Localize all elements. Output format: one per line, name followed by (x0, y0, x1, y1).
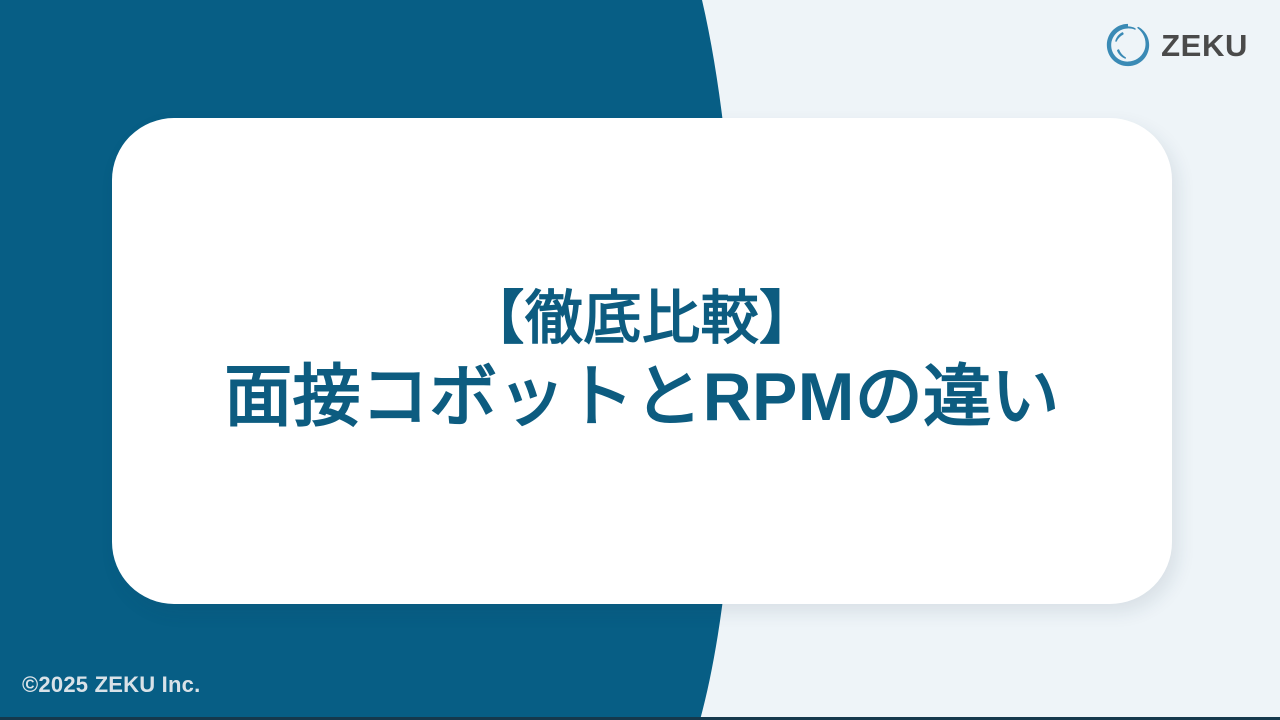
enso-circle-icon (1105, 22, 1151, 68)
brand-logo: ZEKU (1105, 22, 1248, 68)
title-line-1: 【徹底比較】 (224, 285, 1060, 352)
brand-wordmark: ZEKU (1161, 30, 1248, 61)
page-title: 【徹底比較】 面接コボットとRPMの違い (224, 285, 1060, 437)
title-card-inner: 【徹底比較】 面接コボットとRPMの違い (112, 118, 1172, 604)
copyright-footer: ©2025 ZEKU Inc. (22, 672, 200, 698)
title-card: 【徹底比較】 面接コボットとRPMの違い (112, 118, 1172, 604)
title-line-2: 面接コボットとRPMの違い (224, 358, 1060, 437)
title-slide: 【徹底比較】 面接コボットとRPMの違い ZEKU ©2025 ZEKU Inc… (0, 0, 1280, 720)
